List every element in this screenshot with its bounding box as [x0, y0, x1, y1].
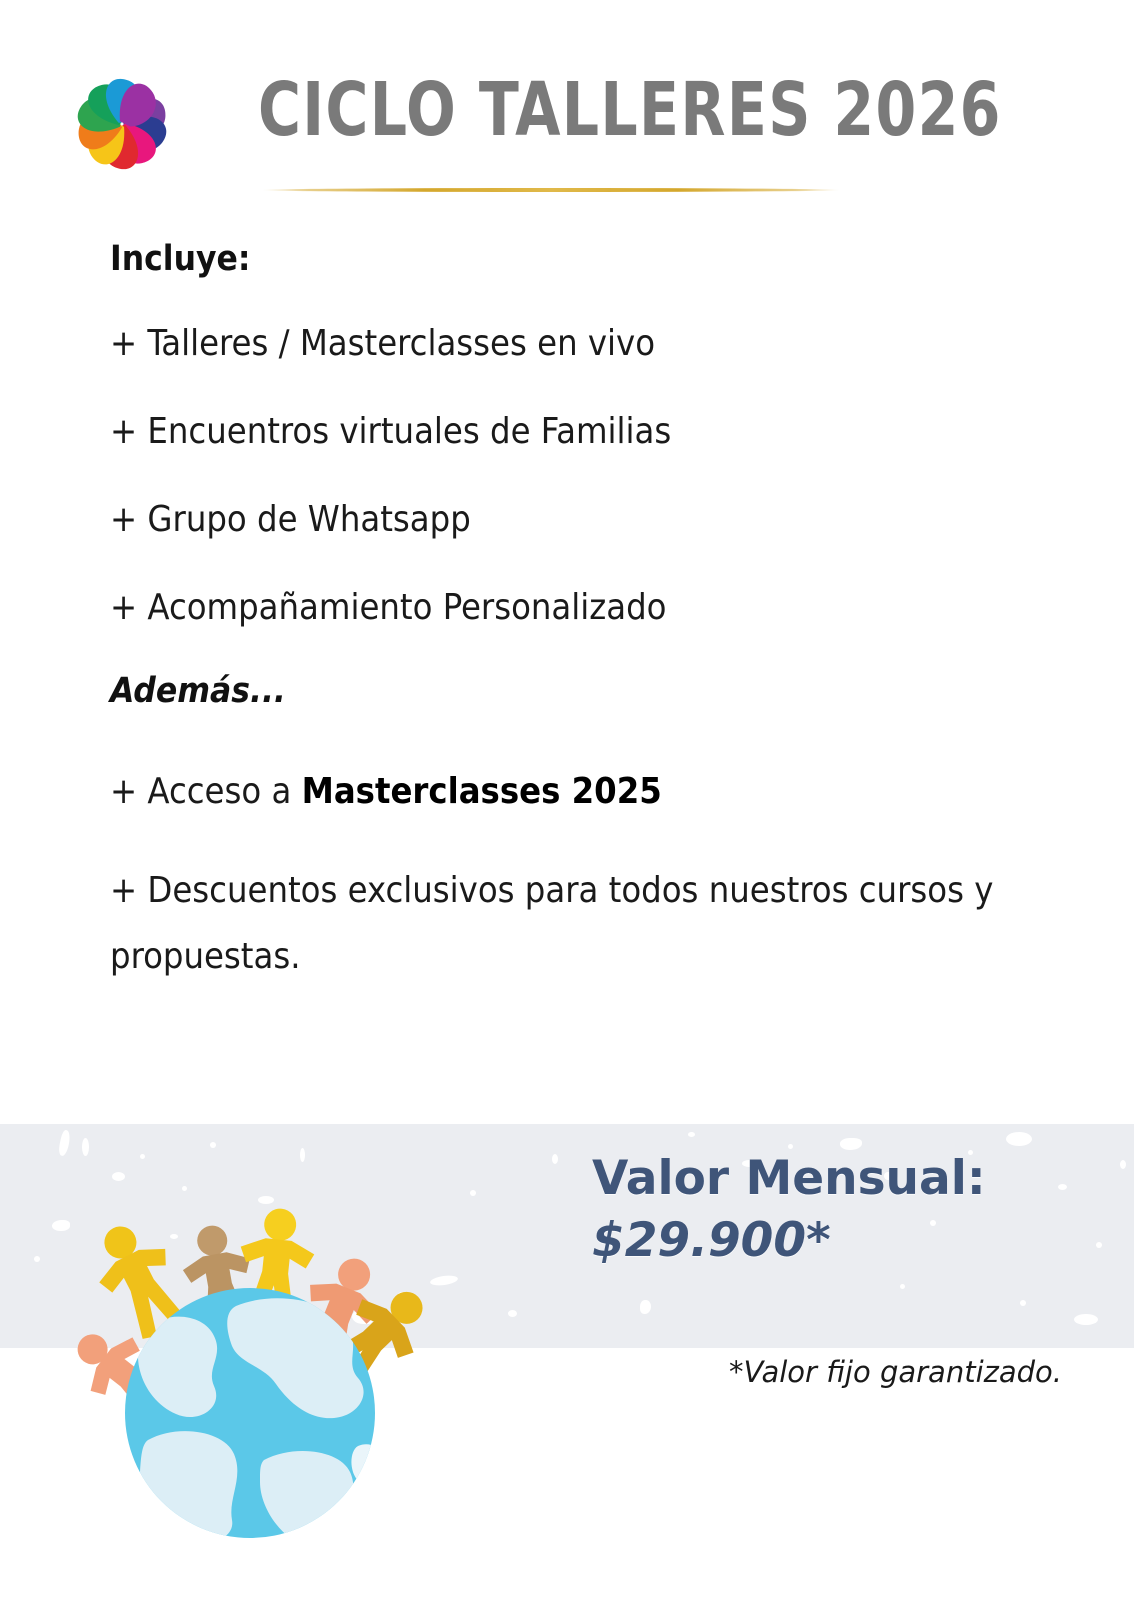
list-item: + Encuentros virtuales de Familias [110, 410, 1050, 454]
pinwheel-flower-logo [70, 72, 174, 176]
masterclass-bold: Masterclasses 2025 [302, 771, 662, 812]
includes-heading: Incluye: [110, 238, 1050, 280]
list-item-discounts: + Descuentos exclusivos para todos nuest… [110, 858, 1010, 990]
masterclass-prefix: + Acceso a [110, 771, 302, 812]
paper-globe-with-people-illustration [28, 1178, 488, 1538]
ademas-heading: Además... [110, 670, 1050, 712]
list-item: + Talleres / Masterclasses en vivo [110, 322, 1050, 366]
poster-header: CICLO TALLERES 2026 [0, 0, 1134, 210]
list-item: + Acompañamiento Personalizado [110, 586, 1050, 630]
list-item-masterclasses: + Acceso a Masterclasses 2025 [110, 770, 1050, 814]
price-label: Valor Mensual: [592, 1150, 1062, 1208]
price-footnote: *Valor fijo garantizado. [592, 1352, 1124, 1392]
page-title: CICLO TALLERES 2026 [258, 68, 1002, 152]
price-block: Valor Mensual: $29.900* [592, 1150, 1062, 1270]
includes-section: Incluye: + Talleres / Masterclasses en v… [110, 238, 1050, 990]
title-divider [262, 188, 840, 192]
price-amount: $29.900* [592, 1212, 1062, 1270]
list-item: + Grupo de Whatsapp [110, 498, 1050, 542]
